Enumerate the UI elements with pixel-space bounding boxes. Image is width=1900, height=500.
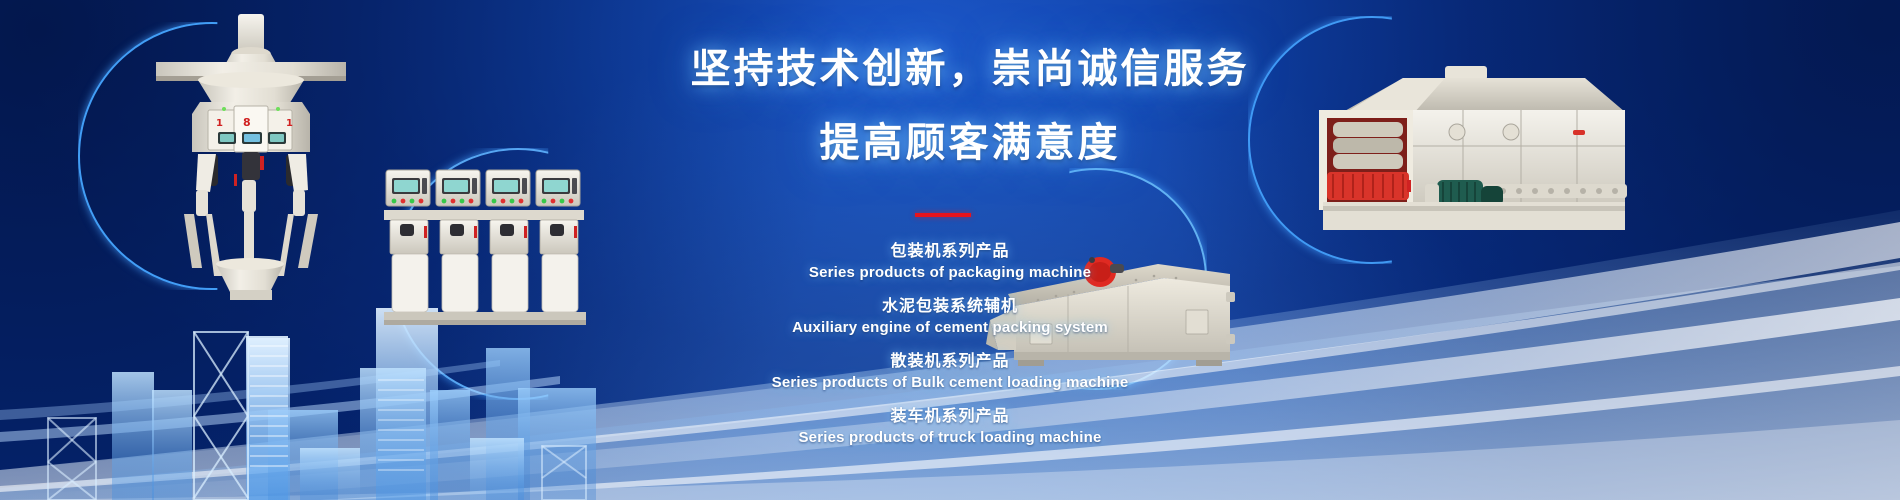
svg-text:1: 1 (216, 118, 223, 129)
truck-loading-machine-image (1285, 38, 1705, 234)
bulk-cement-loading-machine-image (968, 228, 1238, 368)
fixed-packing-machine-image (380, 160, 590, 330)
svg-text:1: 1 (286, 118, 293, 129)
promo-banner: 8 1 1 (0, 0, 1900, 500)
svg-text:8: 8 (243, 116, 251, 129)
rotary-packing-machine-image: 8 1 1 (138, 14, 362, 300)
